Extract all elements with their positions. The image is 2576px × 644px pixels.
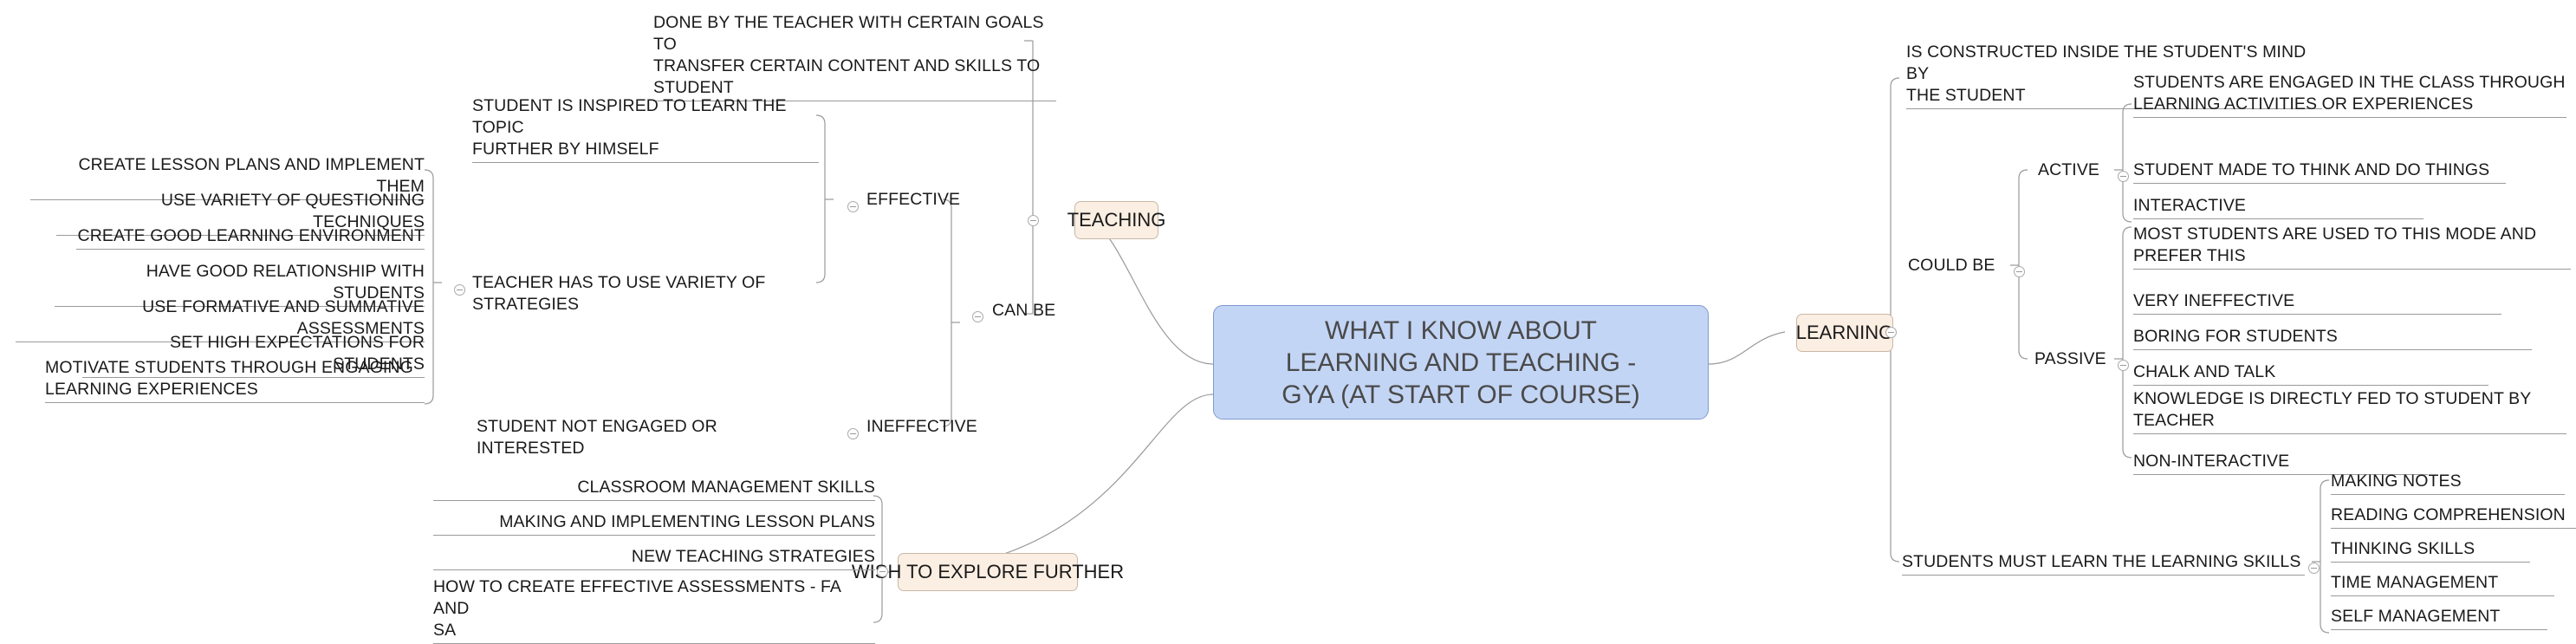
active-child-1[interactable]: STUDENT MADE TO THINK AND DO THINGS [2133, 159, 2506, 184]
learning-skill-item-2[interactable]: THINKING SKILLS [2331, 538, 2530, 563]
teaching-definition[interactable]: DONE BY THE TEACHER WITH CERTAIN GOALS T… [653, 12, 1056, 101]
learning-passive[interactable]: PASSIVE [2034, 348, 2118, 372]
wish-item-0[interactable]: CLASSROOM MANAGEMENT SKILLS [433, 477, 875, 501]
passive-child-3[interactable]: CHALK AND TALK [2133, 361, 2488, 386]
learning-skill-item-4[interactable]: SELF MANAGEMENT [2331, 606, 2547, 630]
collapse-minus-icon-learning[interactable] [1885, 327, 1897, 338]
mindmap-canvas: WHAT I KNOW ABOUT LEARNING AND TEACHING … [0, 0, 2576, 641]
topic-learning[interactable]: LEARNING [1796, 314, 1893, 352]
collapse-minus-icon-teaching[interactable] [1028, 215, 1039, 226]
collapse-minus-icon-effective[interactable] [847, 201, 859, 212]
root-node[interactable]: WHAT I KNOW ABOUT LEARNING AND TEACHING … [1213, 305, 1709, 420]
strategy-item-2[interactable]: CREATE GOOD LEARNING ENVIRONMENT [76, 225, 425, 250]
collapse-minus-icon-strategies[interactable] [454, 284, 465, 296]
effective-child-1[interactable]: TEACHER HAS TO USE VARIETY OF STRATEGIES [472, 272, 819, 317]
learning-skill-item-0[interactable]: MAKING NOTES [2331, 471, 2565, 495]
link-root-teaching [1090, 221, 1213, 364]
passive-child-2[interactable]: BORING FOR STUDENTS [2133, 326, 2532, 350]
link-root-learning [1709, 332, 1785, 364]
ineffective-child-0[interactable]: STUDENT NOT ENGAGED OR INTERESTED [477, 416, 823, 461]
collapse-minus-icon-passive[interactable] [2118, 360, 2129, 371]
active-child-0[interactable]: STUDENTS ARE ENGAGED IN THE CLASS THROUG… [2133, 72, 2566, 118]
passive-child-1[interactable]: VERY INEFFECTIVE [2133, 290, 2501, 315]
wish-item-2[interactable]: NEW TEACHING STRATEGIES [433, 546, 875, 570]
teaching-can-be[interactable]: CAN BE [992, 300, 1070, 323]
strategy-item-6[interactable]: MOTIVATE STUDENTS THROUGH ENGAGING LEARN… [45, 357, 425, 403]
teaching-effective[interactable]: EFFECTIVE [866, 189, 970, 212]
learning-skill-item-3[interactable]: TIME MANAGEMENT [2331, 572, 2554, 596]
collapse-minus-icon-active[interactable] [2118, 171, 2129, 182]
topic-wish-to-explore-further[interactable]: WISH TO EXPLORE FURTHER [898, 553, 1078, 591]
learning-skills[interactable]: STUDENTS MUST LEARN THE LEARNING SKILLS [1902, 551, 2305, 576]
collapse-minus-icon-learning-skills[interactable] [2308, 563, 2320, 574]
collapse-minus-icon-could-be[interactable] [2014, 266, 2025, 277]
active-child-2[interactable]: INTERACTIVE [2133, 195, 2424, 219]
learning-could-be[interactable]: COULD BE [1908, 255, 2021, 278]
learning-skill-item-1[interactable]: READING COMPREHENSION [2331, 504, 2576, 529]
passive-child-4[interactable]: KNOWLEDGE IS DIRECTLY FED TO STUDENT BY … [2133, 388, 2566, 434]
collapse-minus-icon-can-be[interactable] [972, 311, 983, 322]
teaching-ineffective[interactable]: INEFFECTIVE [866, 416, 988, 439]
collapse-minus-icon-wish[interactable] [877, 566, 888, 577]
wish-item-1[interactable]: MAKING AND IMPLEMENTING LESSON PLANS [433, 511, 875, 536]
collapse-minus-icon-ineffective[interactable] [847, 428, 859, 439]
wish-item-3[interactable]: HOW TO CREATE EFFECTIVE ASSESSMENTS - FA… [433, 576, 875, 644]
effective-child-0[interactable]: STUDENT IS INSPIRED TO LEARN THE TOPIC F… [472, 95, 819, 163]
passive-child-0[interactable]: MOST STUDENTS ARE USED TO THIS MODE AND … [2133, 224, 2571, 270]
topic-teaching[interactable]: TEACHING [1074, 201, 1158, 239]
learning-active[interactable]: ACTIVE [2038, 159, 2116, 183]
